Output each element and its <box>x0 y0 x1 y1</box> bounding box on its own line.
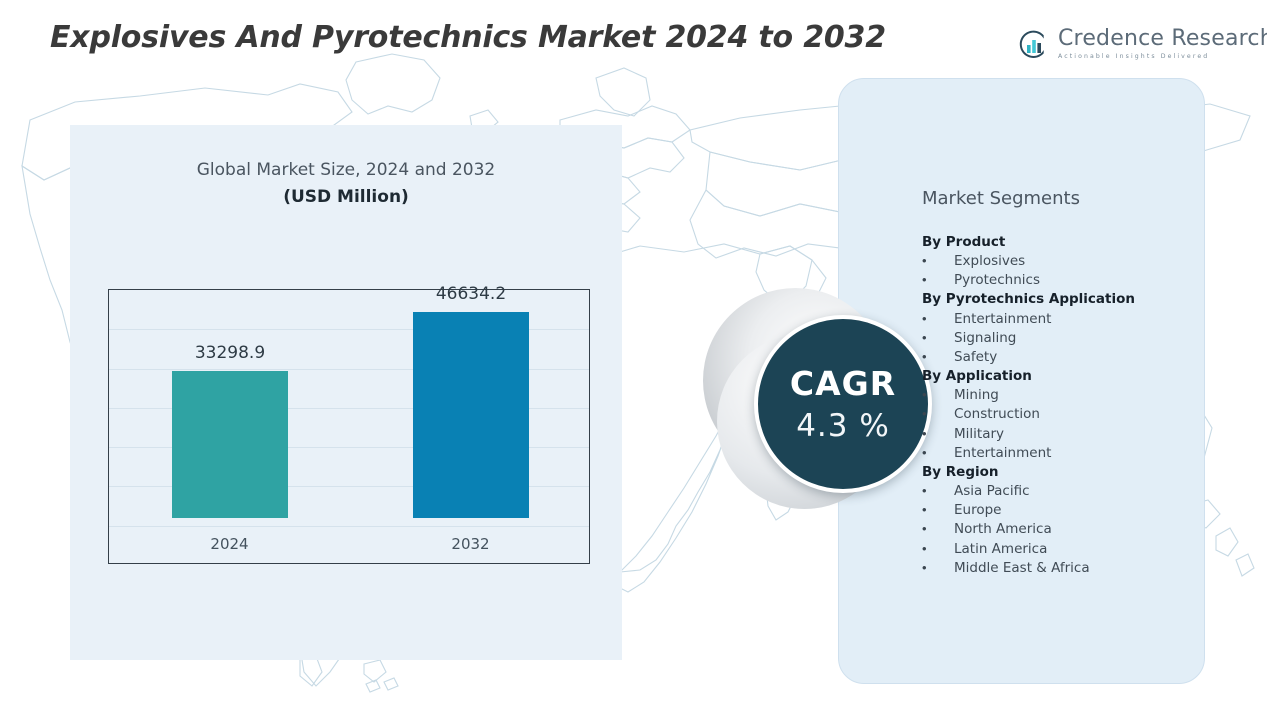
segment-item: •Signaling <box>922 329 1192 348</box>
segment-item-label: Signaling <box>954 329 1016 348</box>
segment-item: •Europe <box>922 501 1192 520</box>
segment-item-label: Pyrotechnics <box>954 271 1040 290</box>
logo-tagline: Actionable Insights Delivered <box>1058 54 1267 60</box>
cagr-badge: CAGR 4.3 % <box>703 288 933 520</box>
segment-item-label: Mining <box>954 386 999 405</box>
bullet-icon: • <box>922 386 954 404</box>
market-segments-title: Market Segments <box>922 188 1192 209</box>
segment-item-label: Explosives <box>954 252 1025 271</box>
bullet-icon: • <box>922 425 954 443</box>
segment-item: •Explosives <box>922 252 1192 271</box>
segment-item-label: Asia Pacific <box>954 482 1030 501</box>
bullet-icon: • <box>922 348 954 366</box>
segment-item-label: Europe <box>954 501 1001 520</box>
segment-item-label: North America <box>954 520 1052 539</box>
segment-item: •Mining <box>922 386 1192 405</box>
segment-item: •Middle East & Africa <box>922 559 1192 578</box>
bullet-icon: • <box>922 310 954 328</box>
credence-research-logo: Credence Research Actionable Insights De… <box>1018 28 1267 60</box>
bullet-icon: • <box>922 271 954 289</box>
bar-chart: 33298.946634.2 20242032 <box>108 289 590 564</box>
bullet-icon: • <box>922 540 954 558</box>
segment-item: •Safety <box>922 348 1192 367</box>
bar-value-label: 46634.2 <box>383 284 559 304</box>
segment-item: •North America <box>922 520 1192 539</box>
bullet-icon: • <box>922 559 954 577</box>
cagr-label: CAGR <box>790 367 896 400</box>
segment-item: •Asia Pacific <box>922 482 1192 501</box>
market-segments-list: By Product•Explosives•PyrotechnicsBy Pyr… <box>922 233 1192 578</box>
segment-group-title: By Product <box>922 233 1192 252</box>
segment-item-label: Latin America <box>954 540 1047 559</box>
gridline <box>109 526 589 527</box>
bullet-icon: • <box>922 329 954 347</box>
infographic-root: Explosives And Pyrotechnics Market 2024 … <box>0 0 1267 713</box>
segment-item: •Entertainment <box>922 444 1192 463</box>
logo-bar-chart-icon <box>1018 29 1049 60</box>
bullet-icon: • <box>922 444 954 462</box>
segment-group-title: By Pyrotechnics Application <box>922 290 1192 309</box>
segment-item-label: Entertainment <box>954 310 1051 329</box>
page-title: Explosives And Pyrotechnics Market 2024 … <box>50 20 886 55</box>
bullet-icon: • <box>922 405 954 423</box>
cagr-circle: CAGR 4.3 % <box>754 315 932 493</box>
segment-item: •Entertainment <box>922 310 1192 329</box>
cagr-value: 4.3 % <box>796 411 890 442</box>
x-axis-label-2032: 2032 <box>350 535 591 553</box>
bar-group: 33298.9 <box>172 288 288 518</box>
bullet-icon: • <box>922 501 954 519</box>
segment-item: •Pyrotechnics <box>922 271 1192 290</box>
bar-value-label: 33298.9 <box>142 343 318 363</box>
market-segments: Market Segments By Product•Explosives•Py… <box>922 188 1192 578</box>
segment-group-title: By Region <box>922 463 1192 482</box>
segment-item-label: Entertainment <box>954 444 1051 463</box>
bar-2024 <box>172 371 288 518</box>
bullet-icon: • <box>922 252 954 270</box>
bullet-icon: • <box>922 520 954 538</box>
segment-item: •Military <box>922 425 1192 444</box>
bullet-icon: • <box>922 482 954 500</box>
segment-item-label: Safety <box>954 348 997 367</box>
segment-item-label: Middle East & Africa <box>954 559 1090 578</box>
chart-bars: 33298.946634.2 <box>109 290 589 518</box>
bar-group: 46634.2 <box>413 288 529 518</box>
segment-item: •Latin America <box>922 540 1192 559</box>
x-axis-label-2024: 2024 <box>109 535 350 553</box>
segment-item-label: Military <box>954 425 1004 444</box>
segment-item: •Construction <box>922 405 1192 424</box>
logo-name: Credence Research <box>1058 28 1267 50</box>
bar-2032 <box>413 312 529 518</box>
segment-group-title: By Application <box>922 367 1192 386</box>
segment-item-label: Construction <box>954 405 1040 424</box>
